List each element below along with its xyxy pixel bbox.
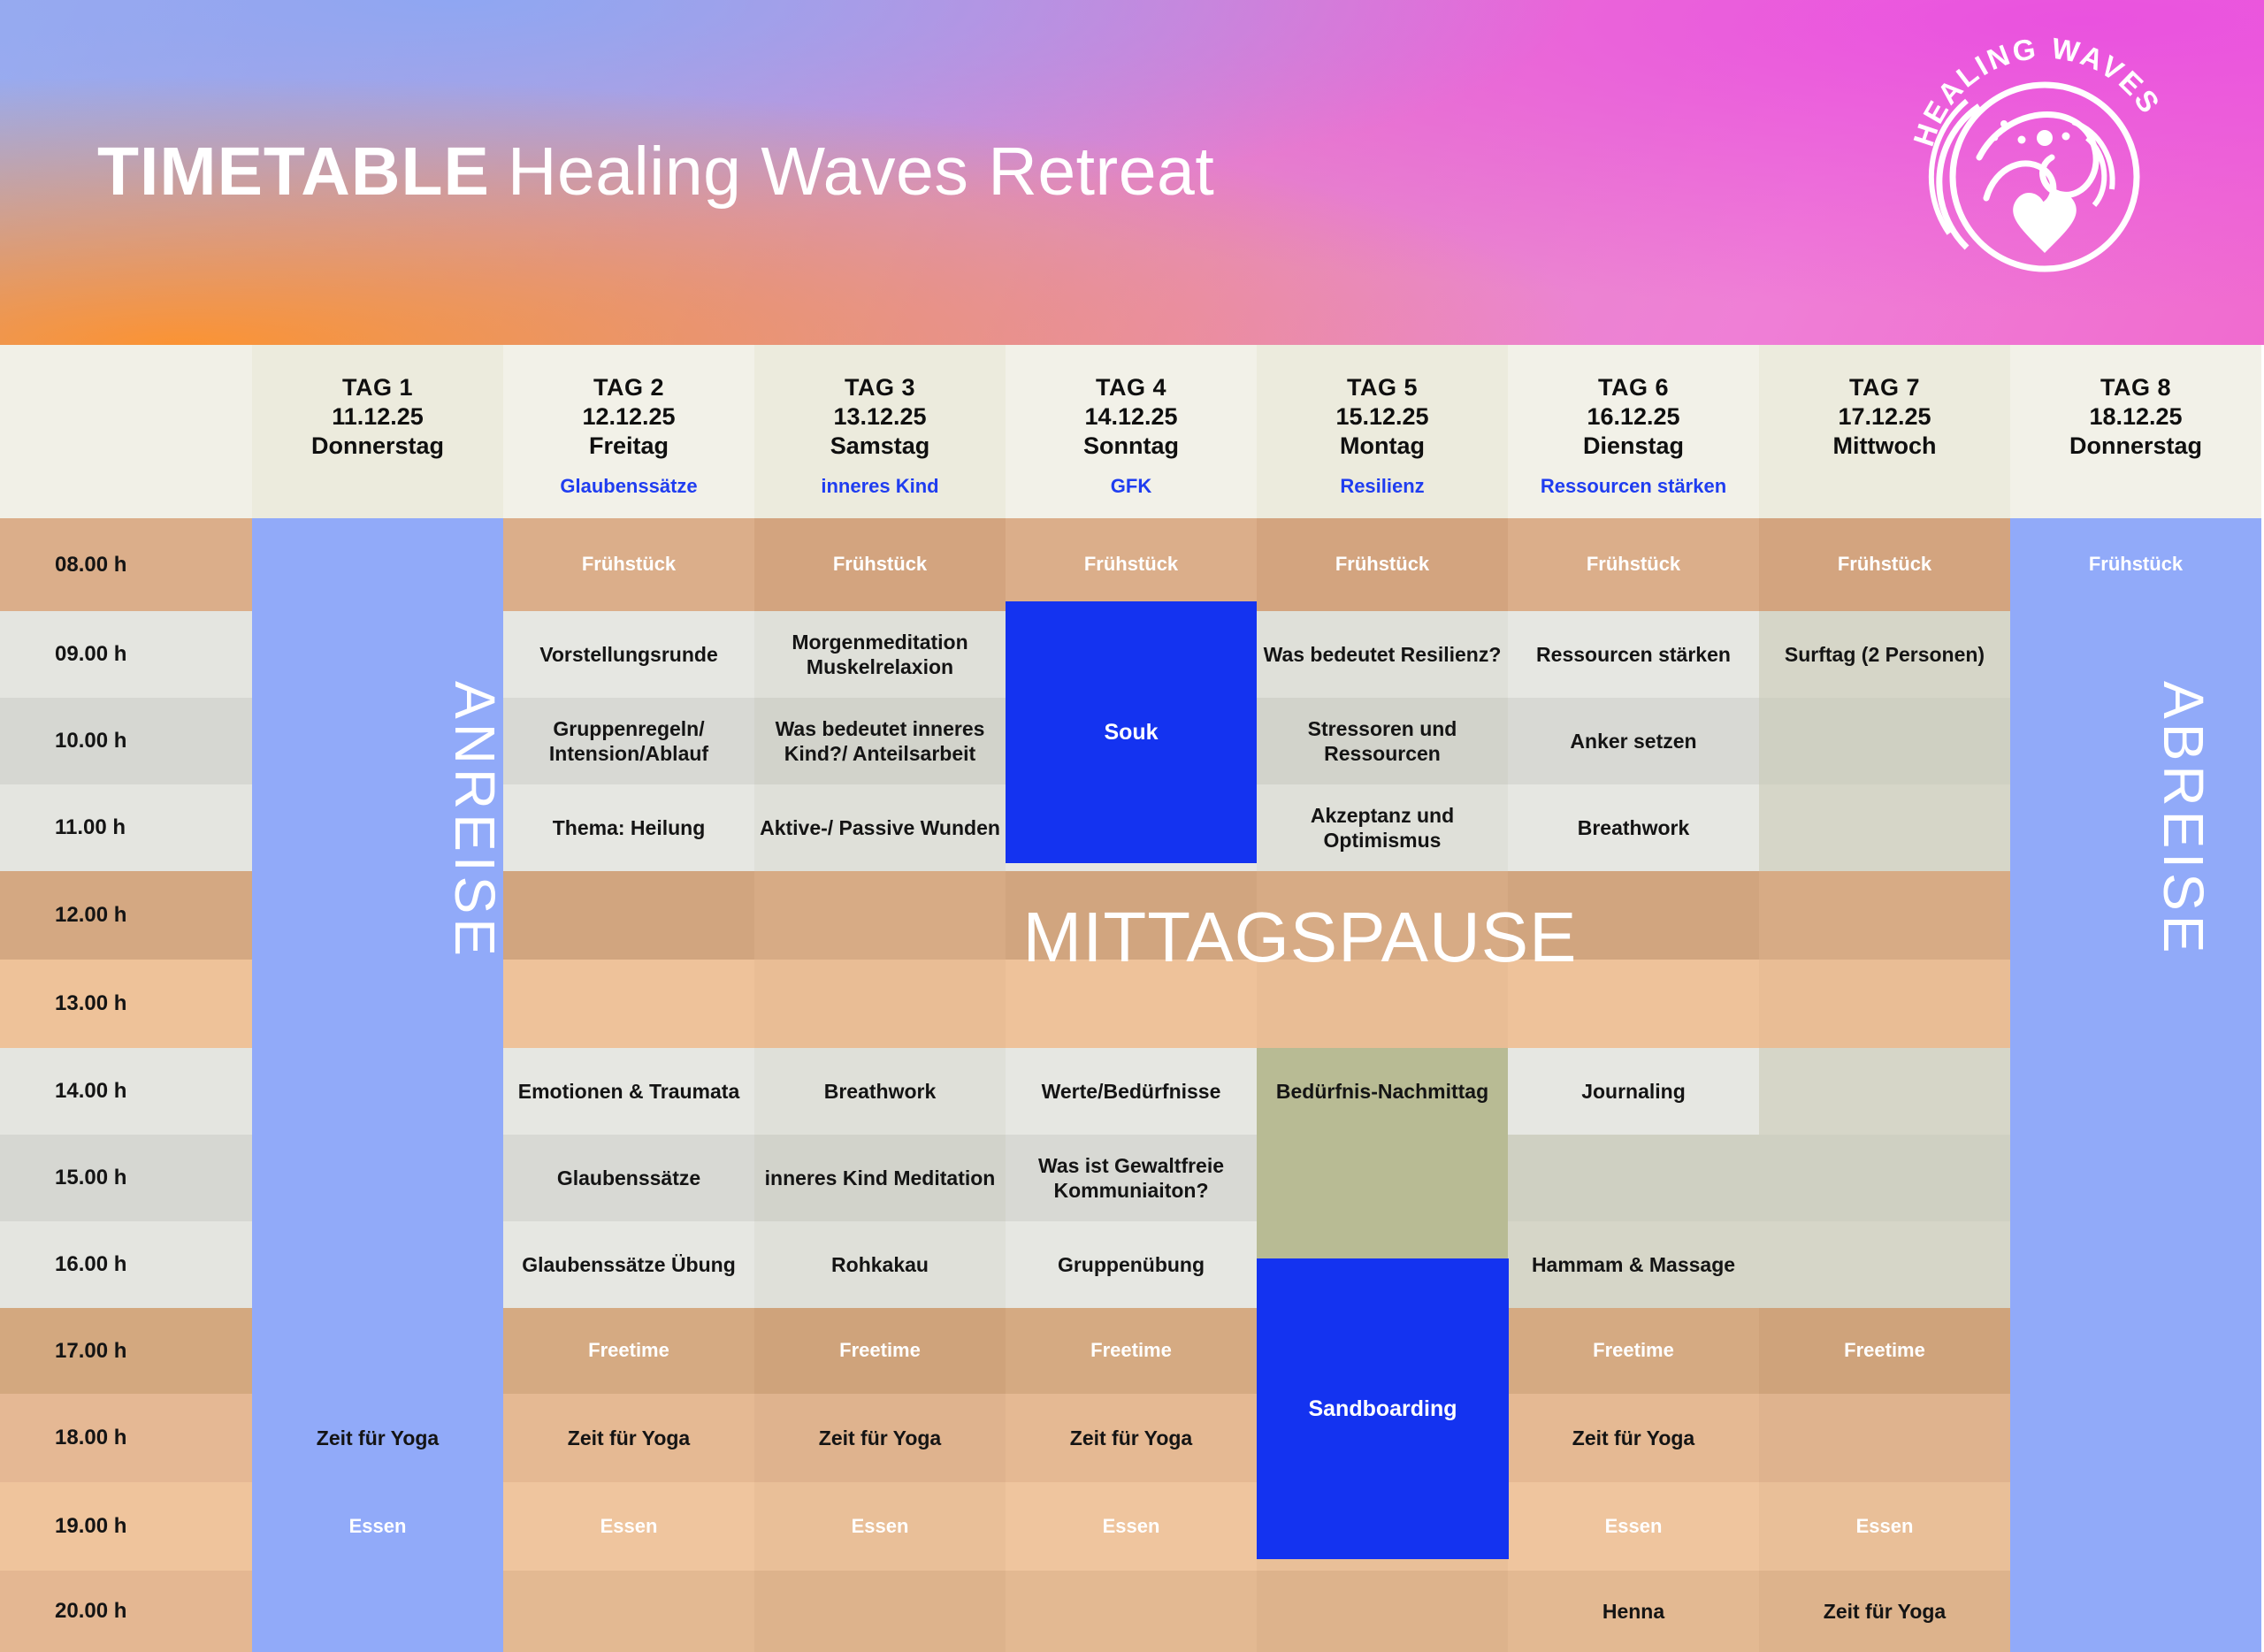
cell-d6-1700: Freetime xyxy=(1508,1308,1759,1394)
day-header-8: TAG 8 18.12.25 Donnerstag xyxy=(2010,345,2261,518)
cell-d6-1200 xyxy=(1508,871,1759,960)
day-date: 18.12.25 xyxy=(2089,402,2182,432)
day-weekday: Donnerstag xyxy=(311,432,444,461)
cell-d5-1200 xyxy=(1257,871,1508,960)
day-header-7: TAG 7 17.12.25 Mittwoch xyxy=(1759,345,2010,518)
day-date: 11.12.25 xyxy=(332,402,424,432)
cell-d1-1800: Zeit für Yoga xyxy=(252,1394,503,1482)
day-weekday: Samstag xyxy=(830,432,930,461)
day-header-1: TAG 1 11.12.25 Donnerstag xyxy=(252,345,503,518)
cell-d2-1200 xyxy=(503,871,754,960)
cell-d5-1500 xyxy=(1257,1135,1508,1221)
day-weekday: Donnerstag xyxy=(2069,432,2202,461)
time-label-0900: 09.00 h xyxy=(0,611,252,698)
cell-d3-1100: Aktive-/ Passive Wunden xyxy=(754,784,1006,871)
cell-d6-1400: Journaling xyxy=(1508,1048,1759,1135)
cell-d2-1000: Gruppenregeln/ Intension/Ablauf xyxy=(503,698,754,784)
time-label-1500: 15.00 h xyxy=(0,1135,252,1221)
cell-d8-1400 xyxy=(2010,1048,2261,1135)
day-header-4: TAG 4 14.12.25 Sonntag GFK xyxy=(1006,345,1257,518)
day-date: 17.12.25 xyxy=(1838,402,1931,432)
cell-d3-1500: inneres Kind Meditation xyxy=(754,1135,1006,1221)
cell-d7-1100 xyxy=(1759,784,2010,871)
day-weekday: Dienstag xyxy=(1583,432,1684,461)
cell-d4-2000 xyxy=(1006,1571,1257,1652)
cell-d8-1000 xyxy=(2010,698,2261,784)
cell-d8-1600 xyxy=(2010,1221,2261,1308)
cell-d4-1500: Was ist Gewaltfreie Kommuniaiton? xyxy=(1006,1135,1257,1221)
cell-d6-1600: Hammam & Massage xyxy=(1508,1221,1759,1308)
day-tag: TAG 4 xyxy=(1096,373,1166,402)
page-header: TIMETABLEHealing Waves Retreat HEALING W… xyxy=(0,0,2264,345)
cell-d5-2000 xyxy=(1257,1571,1508,1652)
cell-d3-1800: Zeit für Yoga xyxy=(754,1394,1006,1482)
cell-d1-2000 xyxy=(252,1571,503,1652)
day-tag: TAG 8 xyxy=(2100,373,2171,402)
time-label-1900: 19.00 h xyxy=(0,1482,252,1571)
abreise-label: ABREISE xyxy=(2151,681,2216,957)
day-weekday: Freitag xyxy=(589,432,669,461)
cell-d3-0900: Morgenmeditation Muskelrelaxion xyxy=(754,611,1006,698)
time-label-0800: 08.00 h xyxy=(0,518,252,611)
cell-d4-1900: Essen xyxy=(1006,1482,1257,1571)
cell-d3-2000 xyxy=(754,1571,1006,1652)
day-topic: Ressourcen stärken xyxy=(1541,475,1726,499)
day-header-2: TAG 2 12.12.25 Freitag Glaubenssätze xyxy=(503,345,754,518)
cell-d7-1400 xyxy=(1759,1048,2010,1135)
cell-d8-0900 xyxy=(2010,611,2261,698)
cell-d1-1900: Essen xyxy=(252,1482,503,1571)
cell-d2-1500: Glaubenssätze xyxy=(503,1135,754,1221)
cell-d1-1300 xyxy=(252,960,503,1048)
cell-d8-2000 xyxy=(2010,1571,2261,1652)
day-tag: TAG 6 xyxy=(1598,373,1669,402)
cell-d7-1600 xyxy=(1759,1221,2010,1308)
day-weekday: Mittwoch xyxy=(1833,432,1937,461)
cell-d7-1200 xyxy=(1759,871,2010,960)
cell-d3-1700: Freetime xyxy=(754,1308,1006,1394)
cell-d8-1300 xyxy=(2010,960,2261,1048)
day-tag: TAG 7 xyxy=(1849,373,1920,402)
page-title: TIMETABLEHealing Waves Retreat xyxy=(97,133,1214,211)
cell-d7-0900: Surftag (2 Personen) xyxy=(1759,611,2010,698)
cell-d7-1900: Essen xyxy=(1759,1482,2010,1571)
grid-corner xyxy=(0,345,252,518)
time-label-1800: 18.00 h xyxy=(0,1394,252,1482)
cell-d2-1900: Essen xyxy=(503,1482,754,1571)
cell-d6-2000: Henna xyxy=(1508,1571,1759,1652)
day-date: 15.12.25 xyxy=(1335,402,1428,432)
title-bold: TIMETABLE xyxy=(97,134,490,210)
cell-d3-1600: Rohkakau xyxy=(754,1221,1006,1308)
cell-d7-1000 xyxy=(1759,698,2010,784)
cell-d8-1100 xyxy=(2010,784,2261,871)
cell-d5-1000: Stressoren und Ressourcen xyxy=(1257,698,1508,784)
cell-d6-1500 xyxy=(1508,1135,1759,1221)
time-label-1300: 13.00 h xyxy=(0,960,252,1048)
cell-d5-1100: Akzeptanz und Optimismus xyxy=(1257,784,1508,871)
cell-d2-1600: Glaubenssätze Übung xyxy=(503,1221,754,1308)
day-date: 14.12.25 xyxy=(1084,402,1177,432)
time-label-1000: 10.00 h xyxy=(0,698,252,784)
timetable-grid: TAG 1 11.12.25 Donnerstag TAG 2 12.12.25… xyxy=(0,345,2264,1652)
day-weekday: Montag xyxy=(1340,432,1425,461)
cell-d3-1300 xyxy=(754,960,1006,1048)
cell-d4-1600: Gruppenübung xyxy=(1006,1221,1257,1308)
cell-d4-1400: Werte/Bedürfnisse xyxy=(1006,1048,1257,1135)
cell-d2-1800: Zeit für Yoga xyxy=(503,1394,754,1482)
cell-d2-0900: Vorstellungsrunde xyxy=(503,611,754,698)
svg-text:HEALING WAVES: HEALING WAVES xyxy=(1910,32,2168,150)
cell-d7-1700: Freetime xyxy=(1759,1308,2010,1394)
cell-d2-1700: Freetime xyxy=(503,1308,754,1394)
cell-d3-1200 xyxy=(754,871,1006,960)
day-topic: GFK xyxy=(1111,475,1151,499)
cell-d8-1700 xyxy=(2010,1308,2261,1394)
souk-block: Souk xyxy=(1006,601,1257,863)
time-label-1400: 14.00 h xyxy=(0,1048,252,1135)
cell-d6-1800: Zeit für Yoga xyxy=(1508,1394,1759,1482)
cell-d1-1400 xyxy=(252,1048,503,1135)
time-label-2000: 20.00 h xyxy=(0,1571,252,1652)
cell-d1-1500 xyxy=(252,1135,503,1221)
day-weekday: Sonntag xyxy=(1083,432,1179,461)
day-tag: TAG 3 xyxy=(845,373,915,402)
cell-d3-1400: Breathwork xyxy=(754,1048,1006,1135)
day-topic: inneres Kind xyxy=(821,475,938,499)
cell-d6-1000: Anker setzen xyxy=(1508,698,1759,784)
time-label-1200: 12.00 h xyxy=(0,871,252,960)
cell-d3-1000: Was bedeutet inneres Kind?/ Anteilsarbei… xyxy=(754,698,1006,784)
cell-d3-0800: Frühstück xyxy=(754,518,1006,611)
cell-d6-0800: Frühstück xyxy=(1508,518,1759,611)
day-header-6: TAG 6 16.12.25 Dienstag Ressourcen stärk… xyxy=(1508,345,1759,518)
cell-d7-1500 xyxy=(1759,1135,2010,1221)
cell-d8-1900 xyxy=(2010,1482,2261,1571)
cell-d6-1900: Essen xyxy=(1508,1482,1759,1571)
cell-d6-0900: Ressourcen stärken xyxy=(1508,611,1759,698)
cell-d2-1400: Emotionen & Traumata xyxy=(503,1048,754,1135)
cell-d4-1700: Freetime xyxy=(1006,1308,1257,1394)
cell-d6-1100: Breathwork xyxy=(1508,784,1759,871)
anreise-label: ANREISE xyxy=(442,681,508,960)
cell-d4-0800: Frühstück xyxy=(1006,518,1257,611)
day-header-5: TAG 5 15.12.25 Montag Resilienz xyxy=(1257,345,1508,518)
time-label-1700: 17.00 h xyxy=(0,1308,252,1394)
cell-d4-1800: Zeit für Yoga xyxy=(1006,1394,1257,1482)
cell-d8-0800: Frühstück xyxy=(2010,518,2261,611)
cell-d2-1300 xyxy=(503,960,754,1048)
cell-d1-1600 xyxy=(252,1221,503,1308)
cell-d2-0800: Frühstück xyxy=(503,518,754,611)
day-tag: TAG 5 xyxy=(1347,373,1418,402)
day-header-3: TAG 3 13.12.25 Samstag inneres Kind xyxy=(754,345,1006,518)
day-tag: TAG 1 xyxy=(342,373,413,402)
day-date: 13.12.25 xyxy=(833,402,926,432)
cell-d2-1100: Thema: Heilung xyxy=(503,784,754,871)
cell-d2-2000 xyxy=(503,1571,754,1652)
healing-waves-logo: HEALING WAVES xyxy=(1910,25,2176,290)
cell-d5-0900: Was bedeutet Resilienz? xyxy=(1257,611,1508,698)
cell-d7-2000: Zeit für Yoga xyxy=(1759,1571,2010,1652)
cell-d7-1300 xyxy=(1759,960,2010,1048)
day-date: 16.12.25 xyxy=(1587,402,1679,432)
cell-d8-1800 xyxy=(2010,1394,2261,1482)
cell-d3-1900: Essen xyxy=(754,1482,1006,1571)
cell-d1-0800 xyxy=(252,518,503,611)
title-light: Healing Waves Retreat xyxy=(508,134,1214,210)
cell-d7-1800 xyxy=(1759,1394,2010,1482)
time-label-1600: 16.00 h xyxy=(0,1221,252,1308)
cell-d4-1200 xyxy=(1006,871,1257,960)
cell-d5-1300 xyxy=(1257,960,1508,1048)
timetable-page: TIMETABLEHealing Waves Retreat HEALING W… xyxy=(0,0,2264,1652)
cell-d5-1400: Bedürfnis-Nachmittag xyxy=(1257,1048,1508,1135)
cell-d7-0800: Frühstück xyxy=(1759,518,2010,611)
cell-d4-1300 xyxy=(1006,960,1257,1048)
day-topic: Glaubenssätze xyxy=(560,475,697,499)
day-date: 12.12.25 xyxy=(582,402,675,432)
sandboarding-block: Sandboarding xyxy=(1257,1258,1509,1559)
cell-d1-1700 xyxy=(252,1308,503,1394)
time-label-1100: 11.00 h xyxy=(0,784,252,871)
cell-d5-0800: Frühstück xyxy=(1257,518,1508,611)
cell-d8-1500 xyxy=(2010,1135,2261,1221)
cell-d8-1200 xyxy=(2010,871,2261,960)
day-tag: TAG 2 xyxy=(593,373,664,402)
day-topic: Resilienz xyxy=(1340,475,1424,499)
cell-d6-1300 xyxy=(1508,960,1759,1048)
